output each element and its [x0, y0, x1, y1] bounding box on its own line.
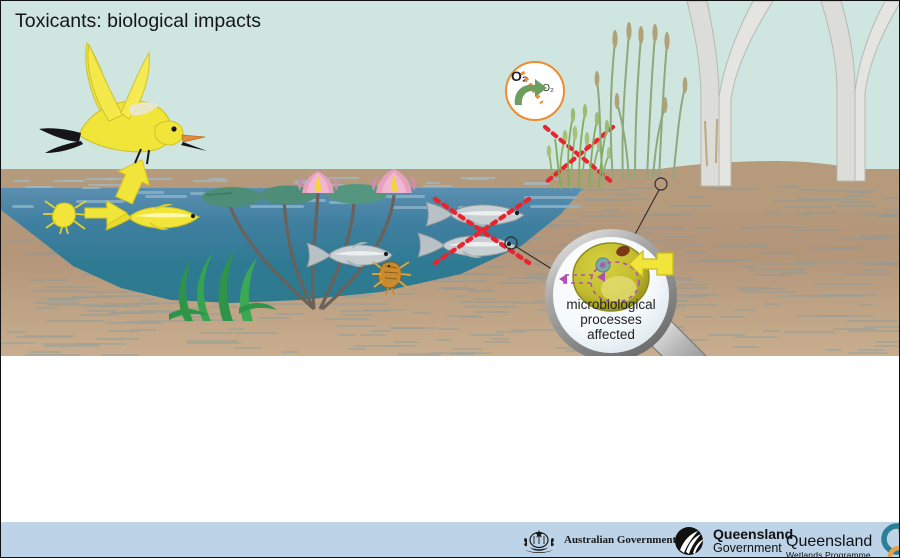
queensland-wetlands-programme-logo: Queensland Wetlands Programme [786, 526, 900, 558]
water-wave [12, 205, 34, 208]
queensland-state-badge-icon [674, 526, 706, 556]
queensland-government-logo: Queensland Government [674, 526, 793, 556]
water-ripple [86, 178, 114, 180]
australian-government-logo: Australian Government [521, 528, 676, 554]
water-ripple [25, 186, 54, 188]
queensland-label: Queensland [713, 527, 793, 542]
logo-text: Queensland Government [713, 527, 793, 555]
government-label: Government [713, 542, 793, 555]
insect-larva [371, 256, 417, 296]
footer-bar: Australian Government Queensland Governm… [1, 522, 900, 558]
water-ripple [461, 177, 495, 179]
infographic-root: O₂ CO₂ [0, 0, 900, 558]
water-ripple [64, 180, 85, 182]
magnifier-caption-line-3: affected [546, 327, 676, 342]
wetland-scene: O₂ CO₂ [1, 1, 900, 357]
logo-text: Australian Government [564, 535, 676, 547]
legend-panel: Death Food chain O₂ CO₂ [1, 356, 900, 522]
page-title: Toxicants: biological impacts [15, 10, 261, 33]
tree [807, 1, 900, 181]
wetlands-programme-label: Wetlands Programme [786, 551, 872, 558]
wetlands-rings-icon [877, 514, 900, 558]
queensland-label: Queensland [786, 534, 872, 551]
water-ripple [193, 180, 212, 182]
tree [661, 1, 781, 186]
water-ripple [82, 187, 100, 189]
magnifier-caption: microbiological processes affected [546, 297, 676, 342]
magnifier-caption-line-1: microbiological [546, 297, 676, 312]
contaminated-bird [37, 43, 217, 173]
australian-government-label: Australian Government [564, 535, 676, 547]
logo-text: Queensland Wetlands Programme [786, 534, 872, 558]
magnifier-caption-line-2: processes [546, 312, 676, 327]
healthy-reeds [553, 91, 623, 187]
commonwealth-coat-of-arms-icon [521, 528, 557, 554]
